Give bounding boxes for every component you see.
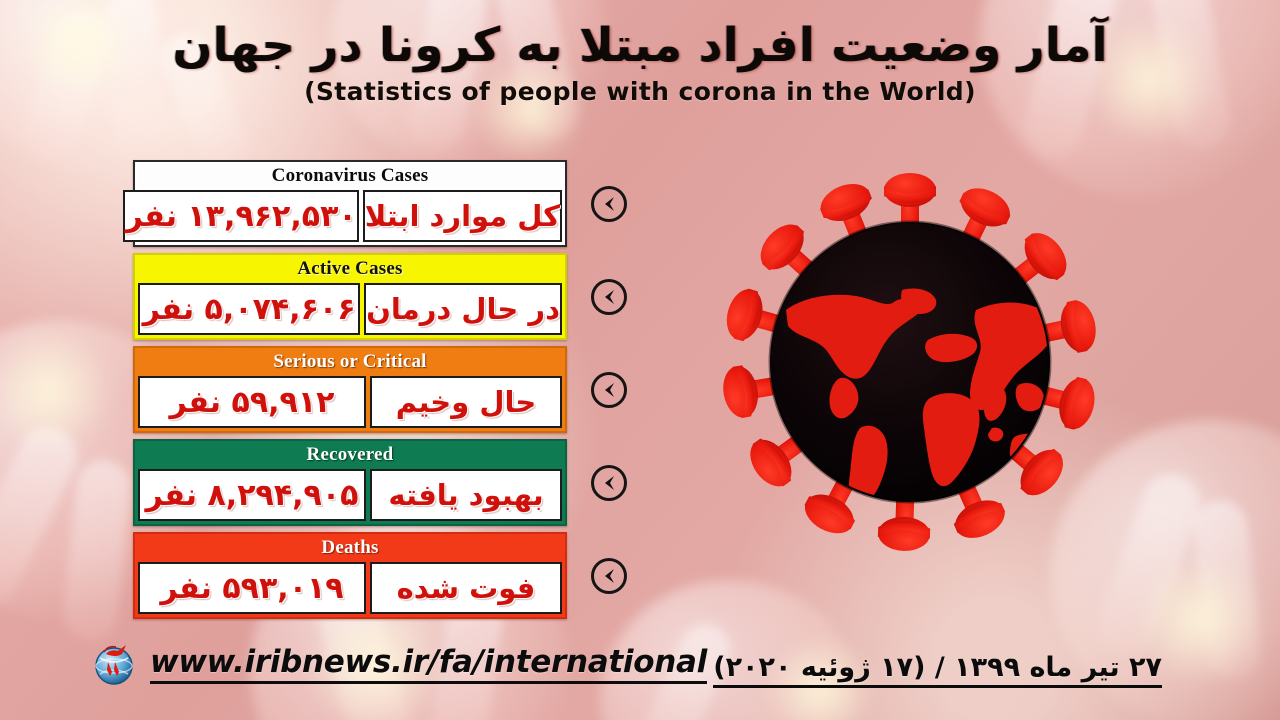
stat-card-body: در حال درمان ۵,۰۷۴,۶۰۶ نفر xyxy=(138,283,562,335)
publication-date: ۲۷ تیر ماه ۱۳۹۹ / (۱۷ ژوئیه ۲۰۲۰) xyxy=(713,652,1162,688)
virus-globe-svg xyxy=(690,140,1130,580)
chevron-left-icon[interactable] xyxy=(591,279,627,315)
page-title-en: (Statistics of people with corona in the… xyxy=(0,77,1280,106)
stat-card-body: کل موارد ابتلا ۱۳,۹۶۲,۵۳۰ نفر xyxy=(138,190,562,242)
page-header: آمار وضعیت افراد مبتلا به کرونا در جهان … xyxy=(0,18,1280,106)
page-title-fa: آمار وضعیت افراد مبتلا به کرونا در جهان xyxy=(0,18,1280,73)
stat-label-fa: فوت شده xyxy=(370,562,562,614)
statistics-list: Coronavirus Cases کل موارد ابتلا ۱۳,۹۶۲,… xyxy=(133,160,567,625)
stat-row-deaths: Deaths فوت شده ۵۹۳,۰۱۹ نفر xyxy=(133,532,567,619)
stat-header-en: Coronavirus Cases xyxy=(138,164,562,189)
stat-card: Coronavirus Cases کل موارد ابتلا ۱۳,۹۶۲,… xyxy=(133,160,567,247)
website-url[interactable]: www.iribnews.ir/fa/international xyxy=(150,644,707,684)
stat-row-recovered: Recovered بهبود یافته ۸,۲۹۴,۹۰۵ نفر xyxy=(133,439,567,526)
stat-label-fa: در حال درمان xyxy=(364,283,562,335)
footer-website[interactable]: www.iribnews.ir/fa/international xyxy=(88,636,707,692)
stat-row-serious-or-critical: Serious or Critical حال وخیم ۵۹,۹۱۲ نفر xyxy=(133,346,567,433)
stat-card: Deaths فوت شده ۵۹۳,۰۱۹ نفر xyxy=(133,532,567,619)
stat-card: Serious or Critical حال وخیم ۵۹,۹۱۲ نفر xyxy=(133,346,567,433)
stat-header-en: Recovered xyxy=(138,443,562,468)
stat-value: ۱۳,۹۶۲,۵۳۰ نفر xyxy=(123,190,358,242)
stat-card: Active Cases در حال درمان ۵,۰۷۴,۶۰۶ نفر xyxy=(133,253,567,340)
stat-header-en: Serious or Critical xyxy=(138,350,562,375)
stat-row-active-cases: Active Cases در حال درمان ۵,۰۷۴,۶۰۶ نفر xyxy=(133,253,567,340)
stat-row-coronavirus-cases: Coronavirus Cases کل موارد ابتلا ۱۳,۹۶۲,… xyxy=(133,160,567,247)
stat-value: ۵۹۳,۰۱۹ نفر xyxy=(138,562,366,614)
coronavirus-globe-graphic xyxy=(690,140,1130,580)
stat-value: ۵۹,۹۱۲ نفر xyxy=(138,376,366,428)
irib-globe-logo-icon xyxy=(88,636,140,692)
chevron-left-icon[interactable] xyxy=(591,465,627,501)
chevron-left-icon[interactable] xyxy=(591,186,627,222)
stat-header-en: Active Cases xyxy=(138,257,562,282)
chevron-left-icon[interactable] xyxy=(591,558,627,594)
stat-label-fa: کل موارد ابتلا xyxy=(363,190,562,242)
stat-label-fa: حال وخیم xyxy=(370,376,562,428)
stat-card: Recovered بهبود یافته ۸,۲۹۴,۹۰۵ نفر xyxy=(133,439,567,526)
infographic-canvas: آمار وضعیت افراد مبتلا به کرونا در جهان … xyxy=(0,0,1280,720)
stat-label-fa: بهبود یافته xyxy=(370,469,562,521)
stat-card-body: بهبود یافته ۸,۲۹۴,۹۰۵ نفر xyxy=(138,469,562,521)
stat-card-body: فوت شده ۵۹۳,۰۱۹ نفر xyxy=(138,562,562,614)
stat-value: ۸,۲۹۴,۹۰۵ نفر xyxy=(138,469,366,521)
stat-value: ۵,۰۷۴,۶۰۶ نفر xyxy=(138,283,360,335)
stat-header-en: Deaths xyxy=(138,536,562,561)
chevron-left-icon[interactable] xyxy=(591,372,627,408)
stat-card-body: حال وخیم ۵۹,۹۱۲ نفر xyxy=(138,376,562,428)
